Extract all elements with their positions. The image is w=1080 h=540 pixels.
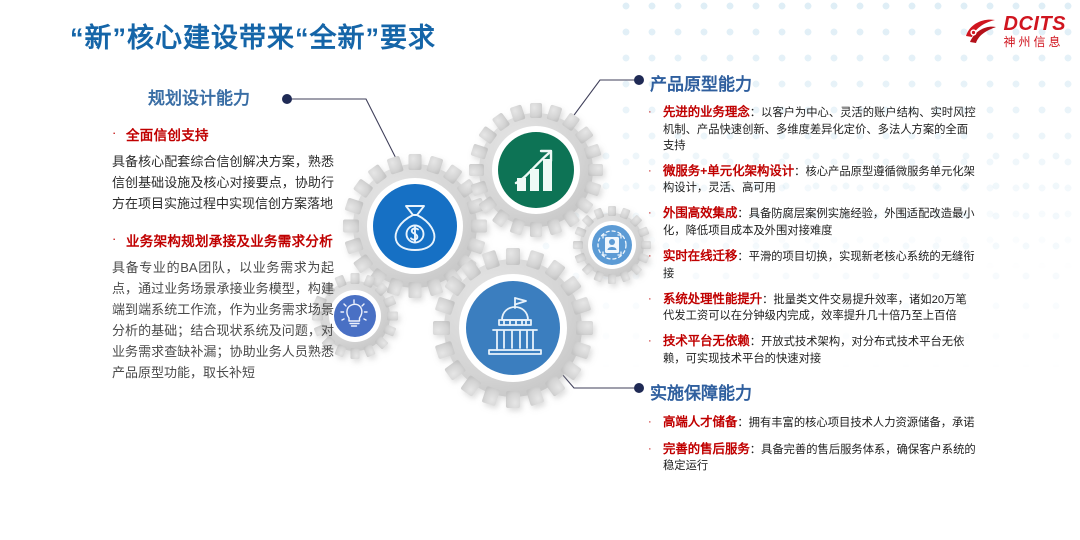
left-bullet-body-2: 具备专业的BA团队，以业务需求为起点，通过业务场景承接业务模型，构建端到端系统工… xyxy=(112,257,334,383)
list-item-lead: 微服务+单元化架构设计 xyxy=(663,164,794,178)
left-bullet-heading-2: · 业务架构规划承接及业务需求分析 xyxy=(112,230,334,250)
list-item-text: 实时在线迁移：平滑的项目切换，实现新老核心系统的无缝衔接 xyxy=(663,248,978,282)
left-bullet-body-1: 具备核心配套综合信创解决方案，熟悉信创基础设施及核心对接要点，协助行方在项目实施… xyxy=(112,151,334,214)
logo-wordmark-cn: 神州信息 xyxy=(1004,36,1067,48)
list-item-lead: 外围高效集成 xyxy=(663,206,737,220)
connector-dot-left xyxy=(282,94,292,104)
bullet-dot-icon: · xyxy=(648,291,663,308)
bullet-dot-icon: · xyxy=(648,104,663,121)
bullet-dot-icon: · xyxy=(648,248,663,265)
list-item: · 完善的售后服务：具备完善的售后服务体系，确保客户系统的稳定运行 xyxy=(648,441,978,475)
page-title: “新”核心建设带来“全新”要求 xyxy=(70,16,436,55)
list-item-text: 高端人才储备：拥有丰富的核心项目技术人力资源储备，承诺 xyxy=(663,414,978,432)
bullet-dot-icon: · xyxy=(648,163,663,180)
section-heading-product-prototype: 产品原型能力 xyxy=(650,70,752,95)
connector-dot-right-top xyxy=(634,75,644,85)
brand-logo: DCITS 神州信息 xyxy=(964,14,1067,48)
list-item: · 先进的业务理念：以客户为中心、灵活的账户结构、实时风控机制、产品快速创新、多… xyxy=(648,104,978,154)
bullet-dot-icon: · xyxy=(648,414,663,431)
logo-wordmark-en: DCITS xyxy=(1004,14,1067,34)
list-item: · 实时在线迁移：平滑的项目切换，实现新老核心系统的无缝衔接 xyxy=(648,248,978,282)
slide-canvas: “新”核心建设带来“全新”要求 DCITS 神州信息 xyxy=(0,0,1080,540)
list-item-lead: 高端人才储备 xyxy=(663,415,737,429)
dcits-swoosh-icon xyxy=(964,16,998,46)
list-item: · 高端人才储备：拥有丰富的核心项目技术人力资源储备，承诺 xyxy=(648,414,978,432)
list-item-lead: 技术平台无依赖 xyxy=(663,334,750,348)
list-item-lead: 系统处理性能提升 xyxy=(663,292,762,306)
list-item-text: 先进的业务理念：以客户为中心、灵活的账户结构、实时风控机制、产品快速创新、多维度… xyxy=(663,104,978,154)
list-item-text: 外围高效集成：具备防腐层案例实施经验，外围适配改造最小化，降低项目成本及外围对接… xyxy=(663,205,978,239)
gear-bank-building xyxy=(433,248,593,408)
right-content-product-prototype: · 先进的业务理念：以客户为中心、灵活的账户结构、实时风控机制、产品快速创新、多… xyxy=(648,104,978,376)
list-item-lead: 先进的业务理念 xyxy=(663,105,750,119)
section-heading-implementation-assurance: 实施保障能力 xyxy=(650,379,752,404)
list-item: · 微服务+单元化架构设计：核心产品原型遵循微服务单元化架构设计，灵活、高可用 xyxy=(648,163,978,197)
gear-cluster-graphic xyxy=(300,88,680,428)
bullet-dot-icon: · xyxy=(648,333,663,350)
list-item-body: ：拥有丰富的核心项目技术人力资源储备，承诺 xyxy=(737,417,974,429)
bullet-dot-icon: · xyxy=(648,441,663,458)
list-item-text: 微服务+单元化架构设计：核心产品原型遵循微服务单元化架构设计，灵活、高可用 xyxy=(663,163,978,197)
list-item-text: 技术平台无依赖：开放式技术架构，对分布式技术平台无依赖，可实现技术平台的快速对接 xyxy=(663,333,978,367)
list-item-lead: 实时在线迁移 xyxy=(663,249,737,263)
bullet-dot-icon: · xyxy=(112,124,126,143)
list-item-text: 系统处理性能提升：批量类文件交易提升效率，诸如20万笔代发工资可以在分钟级内完成… xyxy=(663,291,978,325)
list-item: · 技术平台无依赖：开放式技术架构，对分布式技术平台无依赖，可实现技术平台的快速… xyxy=(648,333,978,367)
bullet-dot-icon: · xyxy=(648,205,663,222)
list-item: · 外围高效集成：具备防腐层案例实施经验，外围适配改造最小化，降低项目成本及外围… xyxy=(648,205,978,239)
section-heading-planning: 规划设计能力 xyxy=(148,84,250,109)
right-content-implementation-assurance: · 高端人才储备：拥有丰富的核心项目技术人力资源储备，承诺 · 完善的售后服务：… xyxy=(648,414,978,483)
gear-growth-chart xyxy=(469,103,603,237)
list-item: · 系统处理性能提升：批量类文件交易提升效率，诸如20万笔代发工资可以在分钟级内… xyxy=(648,291,978,325)
list-item-text: 完善的售后服务：具备完善的售后服务体系，确保客户系统的稳定运行 xyxy=(663,441,978,475)
gear-money-bag xyxy=(343,154,487,298)
left-bullet-lead-1: 全面信创支持 xyxy=(126,124,209,144)
gear-user-badge xyxy=(573,206,651,284)
bullet-dot-icon: · xyxy=(112,230,126,249)
list-item-lead: 完善的售后服务 xyxy=(663,442,750,456)
left-bullet-lead-2: 业务架构规划承接及业务需求分析 xyxy=(126,230,333,250)
left-content-column: · 全面信创支持 具备核心配套综合信创解决方案，熟悉信创基础设施及核心对接要点，… xyxy=(112,124,334,399)
left-bullet-heading-1: · 全面信创支持 xyxy=(112,124,334,144)
